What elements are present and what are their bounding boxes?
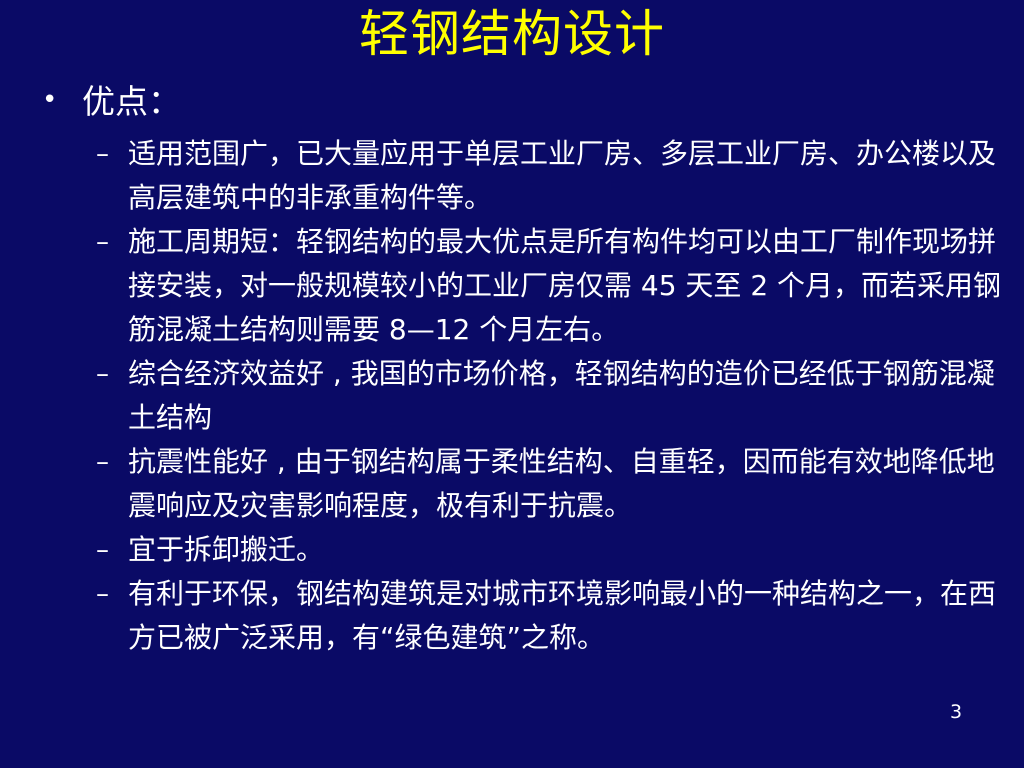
page-number: 3: [950, 700, 990, 724]
bullet-dot-icon: •: [42, 78, 62, 122]
bullet-item-level2: –宜于拆卸搬迁。: [0, 528, 1024, 572]
bullet-text: 宜于拆卸搬迁。: [128, 528, 1014, 572]
bullet-item-level2: –施工周期短：轻钢结构的最大优点是所有构件均可以由工厂制作现场拼接安装，对一般规…: [0, 220, 1024, 352]
bullet-item-level2: –抗震性能好 , 由于钢结构属于柔性结构、自重轻，因而能有效地降低地震响应及灾害…: [0, 440, 1024, 528]
bullet-dash-icon: –: [96, 528, 120, 572]
bullet-text: 抗震性能好 , 由于钢结构属于柔性结构、自重轻，因而能有效地降低地震响应及灾害影…: [128, 440, 1014, 528]
bullet-text: 综合经济效益好 , 我国的市场价格，轻钢结构的造价已经低于钢筋混凝土结构: [128, 352, 1014, 440]
bullet-text: 施工周期短：轻钢结构的最大优点是所有构件均可以由工厂制作现场拼接安装，对一般规模…: [128, 220, 1014, 352]
slide-canvas: 轻钢结构设计 •优点：–适用范围广，已大量应用于单层工业厂房、多层工业厂房、办公…: [0, 0, 1024, 768]
bullet-dash-icon: –: [96, 352, 120, 396]
bullet-text: 有利于环保，钢结构建筑是对城市环境影响最小的一种结构之一，在西方已被广泛采用，有…: [128, 572, 1014, 660]
bullet-item-level2: –综合经济效益好 , 我国的市场价格，轻钢结构的造价已经低于钢筋混凝土结构: [0, 352, 1024, 440]
bullet-item-level2: –有利于环保，钢结构建筑是对城市环境影响最小的一种结构之一，在西方已被广泛采用，…: [0, 572, 1024, 660]
bullet-item-level1: •优点：: [0, 78, 1024, 132]
bullet-dash-icon: –: [96, 440, 120, 484]
bullet-dash-icon: –: [96, 220, 120, 264]
slide-title: 轻钢结构设计: [0, 2, 1024, 66]
bullet-item-level2: –适用范围广，已大量应用于单层工业厂房、多层工业厂房、办公楼以及高层建筑中的非承…: [0, 132, 1024, 220]
slide-body: •优点：–适用范围广，已大量应用于单层工业厂房、多层工业厂房、办公楼以及高层建筑…: [0, 78, 1024, 768]
bullet-text: 优点：: [82, 78, 1024, 126]
bullet-text: 适用范围广，已大量应用于单层工业厂房、多层工业厂房、办公楼以及高层建筑中的非承重…: [128, 132, 1014, 220]
bullet-dash-icon: –: [96, 572, 120, 616]
bullet-dash-icon: –: [96, 132, 120, 176]
